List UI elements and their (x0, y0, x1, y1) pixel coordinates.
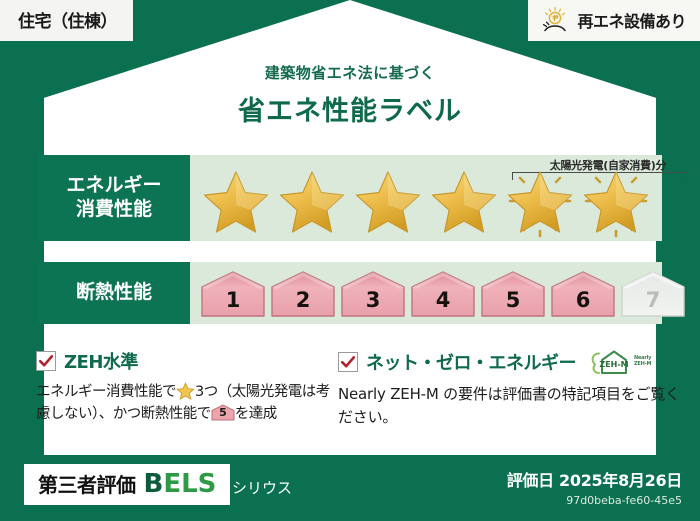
zeh-header: ZEH水準 (36, 348, 330, 374)
insulation-grade-7: 7 (620, 270, 686, 318)
renewable-equipment-badge: 再エネ設備あり (528, 0, 700, 41)
net-zero-energy-block: ネット・ゼロ・エネルギー ZEH-M Nearly ZEH-M Nearly Z… (330, 348, 686, 448)
net-zero-description: Nearly ZEH-M の要件は評価書の特記項目をご覧ください。 (338, 383, 686, 430)
zeh-desc-part3: を達成 (235, 406, 277, 422)
insulation-grade-6: 6 (550, 270, 616, 318)
insulation-grade-value: 6 (550, 270, 616, 318)
zeh-description: エネルギー消費性能で3つ（太陽光発電は考慮しない）、かつ断熱性能で5を達成 (36, 381, 330, 426)
label-footer: 第三者評価 BELS シリウス 評価日 2025年8月26日 97d0beba-… (0, 455, 700, 521)
star-1 (198, 165, 274, 239)
bels-jp-label: 第三者評価 (38, 469, 136, 498)
bels-wordmark: BELS (144, 469, 217, 499)
insulation-grade-5: 5 (480, 270, 546, 318)
label-title-block: 建築物省エネ法に基づく 省エネ性能ラベル (0, 62, 700, 128)
star-6 (578, 165, 654, 239)
insulation-grade-3: 3 (340, 270, 406, 318)
net-zero-header: ネット・ゼロ・エネルギー ZEH-M Nearly ZEH-M (338, 348, 686, 376)
star-icon (176, 382, 195, 400)
insulation-row-value: 1 2 3 (190, 262, 662, 324)
zeh-desc-part1: エネルギー消費性能で (36, 384, 176, 400)
insulation-grade-value: 7 (620, 270, 686, 318)
insulation-grade-1: 1 (200, 270, 266, 318)
zeh-m-logo: ZEH-M Nearly ZEH-M (588, 348, 651, 376)
zeh-m-logo-subtext: Nearly ZEH-M (634, 356, 651, 368)
zeh-standard-block: ZEH水準 エネルギー消費性能で3つ（太陽光発電は考慮しない）、かつ断熱性能で5… (0, 348, 330, 448)
insulation-grade-icon-value: 5 (211, 404, 235, 421)
brand-name: シリウス (232, 477, 292, 498)
insulation-grade-icon: 5 (211, 404, 235, 421)
bels-certification-mark: 第三者評価 BELS (24, 464, 230, 505)
star-4 (426, 165, 502, 239)
insulation-grade-value: 3 (340, 270, 406, 318)
net-zero-checkbox (338, 352, 358, 372)
insulation-grade-value: 4 (410, 270, 476, 318)
svg-text:ZEH-M: ZEH-M (599, 360, 628, 369)
zeh-checkbox (36, 351, 56, 371)
solar-sun-icon (540, 6, 570, 34)
energy-row-value: 太陽光発電(自家消費)分 (190, 155, 662, 241)
zeh-m-sub-line2: ZEH-M (634, 361, 651, 367)
insulation-grade-4: 4 (410, 270, 476, 318)
star-3 (350, 165, 426, 239)
evaluation-date: 評価日 2025年8月26日 (507, 467, 682, 491)
renewable-badge-label: 再エネ設備あり (577, 8, 686, 32)
certification-details: ZEH水準 エネルギー消費性能で3つ（太陽光発電は考慮しない）、かつ断熱性能で5… (0, 348, 700, 448)
page-title: 省エネ性能ラベル (0, 89, 700, 128)
star-2 (274, 165, 350, 239)
energy-label-line1: エネルギー (66, 174, 161, 198)
insulation-grade-value: 1 (200, 270, 266, 318)
energy-row-label: エネルギー 消費性能 (38, 155, 190, 241)
star-rating (198, 165, 658, 239)
evaluation-info: 評価日 2025年8月26日 97d0beba-fe60-45e5 (507, 467, 682, 507)
bels-letters-els: ELS (163, 469, 216, 499)
energy-performance-label: 住宅（住棟） 再エネ設備あり 建築物省エネ法に基づく 省エネ性能ラベル (0, 0, 700, 521)
energy-performance-row: エネルギー 消費性能 太陽光発電(自家消費)分 (38, 155, 662, 241)
net-zero-title: ネット・ゼロ・エネルギー (366, 349, 576, 375)
insulation-performance-row: 断熱性能 1 2 (38, 262, 662, 324)
energy-label-line2: 消費性能 (76, 198, 152, 222)
bels-letter-b: B (144, 469, 164, 499)
title-subtitle: 建築物省エネ法に基づく (0, 62, 700, 83)
star-5 (502, 165, 578, 239)
building-type-tag: 住宅（住棟） (0, 0, 133, 41)
insulation-grade-value: 2 (270, 270, 336, 318)
insulation-grade-value: 5 (480, 270, 546, 318)
zeh-title: ZEH水準 (64, 348, 138, 374)
insulation-grade-2: 2 (270, 270, 336, 318)
evaluation-id: 97d0beba-fe60-45e5 (507, 494, 682, 507)
insulation-label-line1: 断熱性能 (76, 281, 152, 305)
insulation-grade-scale: 1 2 3 (200, 268, 656, 320)
insulation-row-label: 断熱性能 (38, 262, 190, 324)
